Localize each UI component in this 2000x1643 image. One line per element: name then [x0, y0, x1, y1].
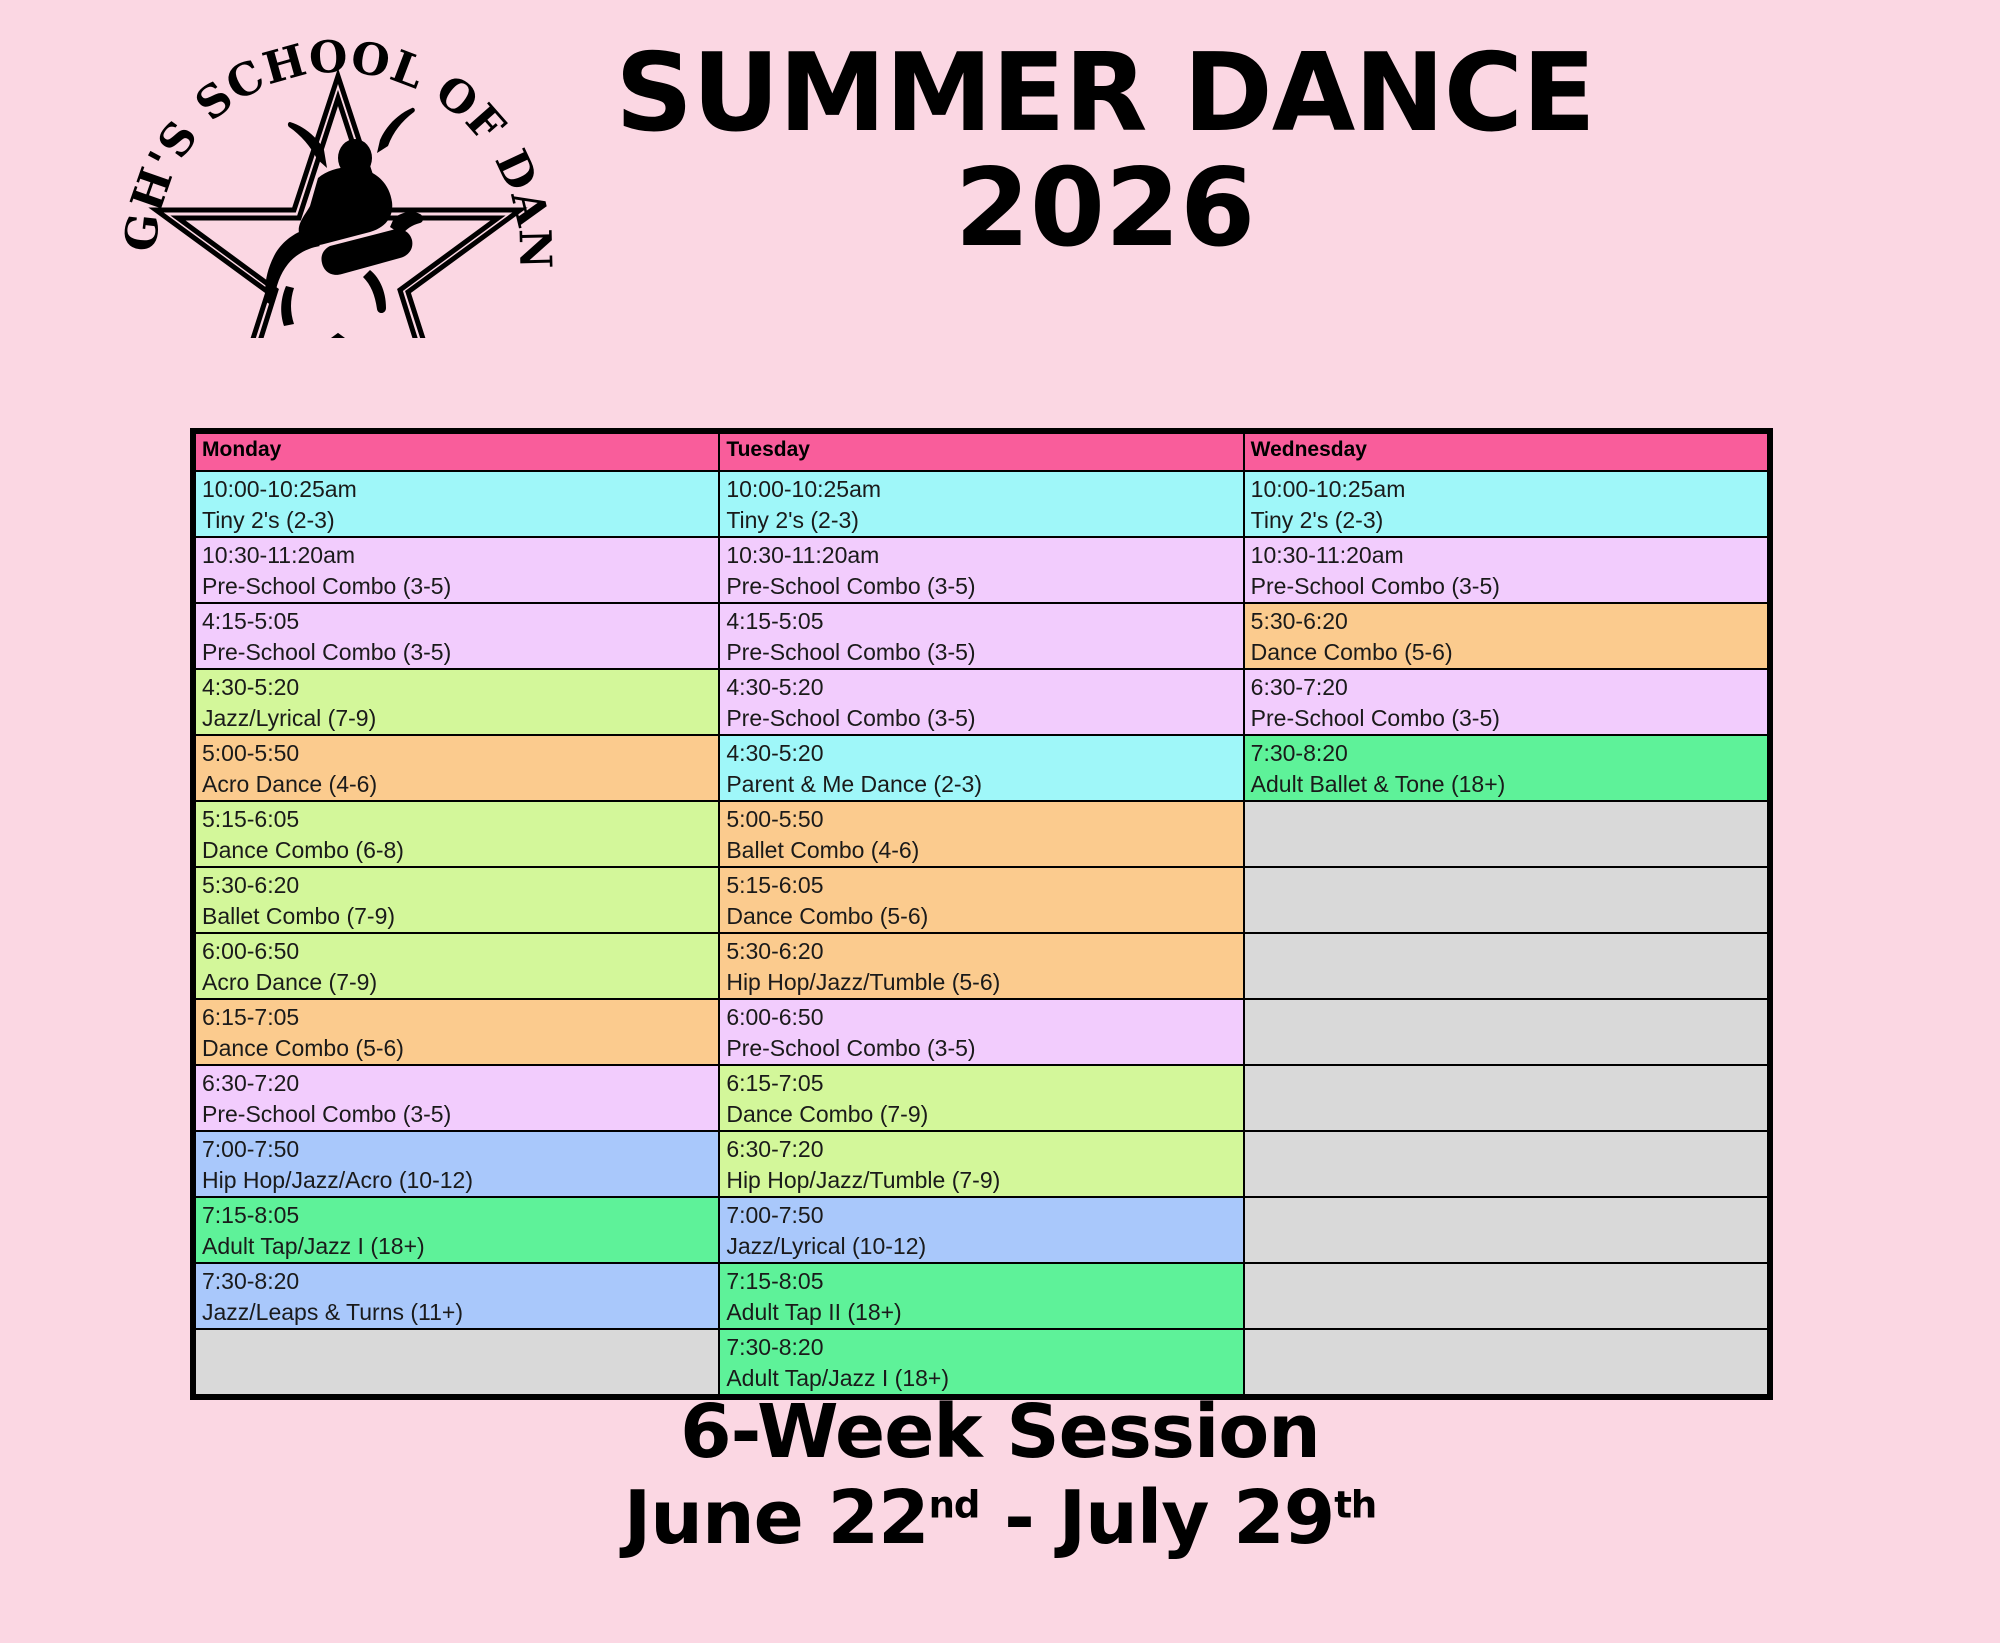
- class-name: Jazz/Lyrical (10-12): [720, 1231, 1242, 1262]
- class-name: Tiny 2's (2-3): [720, 505, 1242, 536]
- table-row: 5:30-6:20Ballet Combo (7-9)5:15-6:05Danc…: [195, 867, 1768, 933]
- class-name: Pre-School Combo (3-5): [720, 1033, 1242, 1064]
- session-date-end-ordinal: th: [1334, 1483, 1376, 1526]
- session-date-start: June 22: [624, 1475, 929, 1561]
- class-cell-tuesday[interactable]: 5:15-6:05Dance Combo (5-6): [719, 867, 1243, 933]
- class-cell-wednesday[interactable]: 7:30-8:20Adult Ballet & Tone (18+): [1244, 735, 1768, 801]
- class-name: Pre-School Combo (3-5): [1245, 703, 1767, 734]
- day-label-wednesday: Wednesday: [1245, 434, 1767, 466]
- class-name: Dance Combo (5-6): [1245, 637, 1767, 668]
- class-name: Dance Combo (5-6): [720, 901, 1242, 932]
- class-cell-monday[interactable]: 7:30-8:20Jazz/Leaps & Turns (11+): [195, 1263, 719, 1329]
- schedule-table-container: Monday Tuesday Wednesday 10:00-10:25amTi…: [190, 428, 1773, 1400]
- class-cell-monday[interactable]: 10:30-11:20amPre-School Combo (3-5): [195, 537, 719, 603]
- class-time: 6:15-7:05: [196, 1000, 718, 1033]
- class-name: Dance Combo (7-9): [720, 1099, 1242, 1130]
- class-cell-monday[interactable]: 4:15-5:05Pre-School Combo (3-5): [195, 603, 719, 669]
- class-name: Adult Tap/Jazz I (18+): [196, 1231, 718, 1262]
- class-name: Adult Ballet & Tone (18+): [1245, 769, 1767, 800]
- column-header-wednesday: Wednesday: [1244, 433, 1768, 471]
- class-name: Pre-School Combo (3-5): [720, 703, 1242, 734]
- class-cell-monday[interactable]: 5:00-5:50Acro Dance (4-6): [195, 735, 719, 801]
- class-name: Dance Combo (6-8): [196, 835, 718, 866]
- class-time: 10:00-10:25am: [720, 472, 1242, 505]
- column-header-tuesday: Tuesday: [719, 433, 1243, 471]
- empty-cell-wednesday: [1244, 1197, 1768, 1263]
- empty-cell-wednesday: [1244, 933, 1768, 999]
- class-time: 10:00-10:25am: [1245, 472, 1767, 505]
- class-time: 4:15-5:05: [720, 604, 1242, 637]
- class-time: 4:30-5:20: [196, 670, 718, 703]
- session-length: 6-Week Session: [0, 1390, 2000, 1476]
- page-title: SUMMER DANCE 2026: [590, 38, 1620, 270]
- class-name: Ballet Combo (7-9): [196, 901, 718, 932]
- class-name: Pre-School Combo (3-5): [196, 637, 718, 668]
- table-row: 5:15-6:05Dance Combo (6-8)5:00-5:50Balle…: [195, 801, 1768, 867]
- day-label-tuesday: Tuesday: [720, 434, 1242, 466]
- class-time: 7:30-8:20: [1245, 736, 1767, 769]
- class-name: Pre-School Combo (3-5): [720, 571, 1242, 602]
- class-time: 7:00-7:50: [720, 1198, 1242, 1231]
- class-cell-tuesday[interactable]: 5:30-6:20Hip Hop/Jazz/Tumble (5-6): [719, 933, 1243, 999]
- table-row: 10:30-11:20amPre-School Combo (3-5)10:30…: [195, 537, 1768, 603]
- session-date-separator: - July 29: [979, 1475, 1334, 1561]
- empty-cell-wednesday: [1244, 1065, 1768, 1131]
- class-time: 5:30-6:20: [1245, 604, 1767, 637]
- class-name: Tiny 2's (2-3): [196, 505, 718, 536]
- empty-cell-wednesday: [1244, 999, 1768, 1065]
- class-name: Adult Tap II (18+): [720, 1297, 1242, 1328]
- class-cell-tuesday[interactable]: 4:30-5:20Parent & Me Dance (2-3): [719, 735, 1243, 801]
- class-cell-wednesday[interactable]: 6:30-7:20Pre-School Combo (3-5): [1244, 669, 1768, 735]
- title-line-2: 2026: [590, 149, 1620, 270]
- table-row: 6:00-6:50Acro Dance (7-9)5:30-6:20Hip Ho…: [195, 933, 1768, 999]
- table-row: 5:00-5:50Acro Dance (4-6)4:30-5:20Parent…: [195, 735, 1768, 801]
- table-row: 7:00-7:50Hip Hop/Jazz/Acro (10-12)6:30-7…: [195, 1131, 1768, 1197]
- class-name: Dance Combo (5-6): [196, 1033, 718, 1064]
- class-time: 6:30-7:20: [720, 1132, 1242, 1165]
- class-cell-tuesday[interactable]: 7:30-8:20Adult Tap/Jazz I (18+): [719, 1329, 1243, 1395]
- class-name: Hip Hop/Jazz/Tumble (7-9): [720, 1165, 1242, 1196]
- empty-cell-wednesday: [1244, 1329, 1768, 1395]
- class-cell-monday[interactable]: 5:15-6:05Dance Combo (6-8): [195, 801, 719, 867]
- table-row: 10:00-10:25amTiny 2's (2-3)10:00-10:25am…: [195, 471, 1768, 537]
- class-name: Pre-School Combo (3-5): [720, 637, 1242, 668]
- table-row: 7:30-8:20Jazz/Leaps & Turns (11+)7:15-8:…: [195, 1263, 1768, 1329]
- empty-cell-monday: [195, 1329, 719, 1395]
- class-name: Tiny 2's (2-3): [1245, 505, 1767, 536]
- class-time: 10:30-11:20am: [720, 538, 1242, 571]
- class-cell-tuesday[interactable]: 10:00-10:25amTiny 2's (2-3): [719, 471, 1243, 537]
- schedule-body: 10:00-10:25amTiny 2's (2-3)10:00-10:25am…: [195, 471, 1768, 1395]
- class-time: 5:15-6:05: [196, 802, 718, 835]
- table-row: 6:15-7:05Dance Combo (5-6)6:00-6:50Pre-S…: [195, 999, 1768, 1065]
- class-cell-tuesday[interactable]: 4:15-5:05Pre-School Combo (3-5): [719, 603, 1243, 669]
- session-dates: June 22nd - July 29th: [0, 1476, 2000, 1562]
- class-name: Pre-School Combo (3-5): [196, 1099, 718, 1130]
- class-time: 7:15-8:05: [196, 1198, 718, 1231]
- class-cell-monday[interactable]: 10:00-10:25amTiny 2's (2-3): [195, 471, 719, 537]
- table-row: 6:30-7:20Pre-School Combo (3-5)6:15-7:05…: [195, 1065, 1768, 1131]
- class-time: 4:15-5:05: [196, 604, 718, 637]
- class-time: 7:00-7:50: [196, 1132, 718, 1165]
- class-cell-tuesday[interactable]: 4:30-5:20Pre-School Combo (3-5): [719, 669, 1243, 735]
- class-time: 5:00-5:50: [720, 802, 1242, 835]
- class-name: Hip Hop/Jazz/Tumble (5-6): [720, 967, 1242, 998]
- class-cell-monday[interactable]: 5:30-6:20Ballet Combo (7-9): [195, 867, 719, 933]
- class-time: 6:15-7:05: [720, 1066, 1242, 1099]
- class-name: Pre-School Combo (3-5): [1245, 571, 1767, 602]
- class-time: 5:00-5:50: [196, 736, 718, 769]
- class-time: 10:30-11:20am: [1245, 538, 1767, 571]
- class-time: 4:30-5:20: [720, 670, 1242, 703]
- session-footer: 6-Week Session June 22nd - July 29th: [0, 1390, 2000, 1562]
- class-cell-monday[interactable]: 4:30-5:20Jazz/Lyrical (7-9): [195, 669, 719, 735]
- class-cell-tuesday[interactable]: 7:15-8:05Adult Tap II (18+): [719, 1263, 1243, 1329]
- class-time: 7:30-8:20: [720, 1330, 1242, 1363]
- class-time: 7:30-8:20: [196, 1264, 718, 1297]
- class-cell-monday[interactable]: 6:30-7:20Pre-School Combo (3-5): [195, 1065, 719, 1131]
- class-cell-monday[interactable]: 6:15-7:05Dance Combo (5-6): [195, 999, 719, 1065]
- class-cell-tuesday[interactable]: 6:00-6:50Pre-School Combo (3-5): [719, 999, 1243, 1065]
- class-time: 7:15-8:05: [720, 1264, 1242, 1297]
- class-name: Ballet Combo (4-6): [720, 835, 1242, 866]
- empty-cell-wednesday: [1244, 867, 1768, 933]
- schedule-header-row: Monday Tuesday Wednesday: [195, 433, 1768, 471]
- class-cell-monday[interactable]: 7:15-8:05Adult Tap/Jazz I (18+): [195, 1197, 719, 1263]
- class-cell-tuesday[interactable]: 5:00-5:50Ballet Combo (4-6): [719, 801, 1243, 867]
- empty-cell-wednesday: [1244, 1131, 1768, 1197]
- class-name: Acro Dance (4-6): [196, 769, 718, 800]
- class-cell-wednesday[interactable]: 10:30-11:20amPre-School Combo (3-5): [1244, 537, 1768, 603]
- class-name: Jazz/Leaps & Turns (11+): [196, 1297, 718, 1328]
- session-date-start-ordinal: nd: [929, 1483, 980, 1526]
- class-cell-wednesday[interactable]: 10:00-10:25amTiny 2's (2-3): [1244, 471, 1768, 537]
- table-row: 7:15-8:05Adult Tap/Jazz I (18+)7:00-7:50…: [195, 1197, 1768, 1263]
- class-cell-tuesday[interactable]: 6:15-7:05Dance Combo (7-9): [719, 1065, 1243, 1131]
- class-cell-tuesday[interactable]: 6:30-7:20Hip Hop/Jazz/Tumble (7-9): [719, 1131, 1243, 1197]
- class-time: 5:30-6:20: [196, 868, 718, 901]
- class-cell-tuesday[interactable]: 10:30-11:20amPre-School Combo (3-5): [719, 537, 1243, 603]
- column-header-monday: Monday: [195, 433, 719, 471]
- class-name: Parent & Me Dance (2-3): [720, 769, 1242, 800]
- empty-cell-wednesday: [1244, 1263, 1768, 1329]
- class-name: Acro Dance (7-9): [196, 967, 718, 998]
- class-cell-wednesday[interactable]: 5:30-6:20Dance Combo (5-6): [1244, 603, 1768, 669]
- table-row: 4:15-5:05Pre-School Combo (3-5)4:15-5:05…: [195, 603, 1768, 669]
- page-header: LEIGH'S SCHOOL OF DANCE SUMMER DANCE 202…: [0, 0, 2000, 330]
- class-name: Jazz/Lyrical (7-9): [196, 703, 718, 734]
- class-time: 10:00-10:25am: [196, 472, 718, 505]
- class-cell-monday[interactable]: 7:00-7:50Hip Hop/Jazz/Acro (10-12): [195, 1131, 719, 1197]
- class-time: 5:30-6:20: [720, 934, 1242, 967]
- table-row: 7:30-8:20Adult Tap/Jazz I (18+): [195, 1329, 1768, 1395]
- class-cell-tuesday[interactable]: 7:00-7:50Jazz/Lyrical (10-12): [719, 1197, 1243, 1263]
- day-label-monday: Monday: [196, 434, 718, 466]
- empty-cell-wednesday: [1244, 801, 1768, 867]
- schedule-table: Monday Tuesday Wednesday 10:00-10:25amTi…: [194, 432, 1769, 1396]
- class-time: 4:30-5:20: [720, 736, 1242, 769]
- class-time: 10:30-11:20am: [196, 538, 718, 571]
- class-name: Hip Hop/Jazz/Acro (10-12): [196, 1165, 718, 1196]
- class-time: 6:30-7:20: [1245, 670, 1767, 703]
- table-row: 4:30-5:20Jazz/Lyrical (7-9)4:30-5:20Pre-…: [195, 669, 1768, 735]
- class-cell-monday[interactable]: 6:00-6:50Acro Dance (7-9): [195, 933, 719, 999]
- class-time: 5:15-6:05: [720, 868, 1242, 901]
- class-time: 6:00-6:50: [720, 1000, 1242, 1033]
- class-time: 6:30-7:20: [196, 1066, 718, 1099]
- title-line-1: SUMMER DANCE: [590, 38, 1620, 149]
- class-time: 6:00-6:50: [196, 934, 718, 967]
- class-name: Pre-School Combo (3-5): [196, 571, 718, 602]
- school-logo: LEIGH'S SCHOOL OF DANCE: [118, 18, 558, 338]
